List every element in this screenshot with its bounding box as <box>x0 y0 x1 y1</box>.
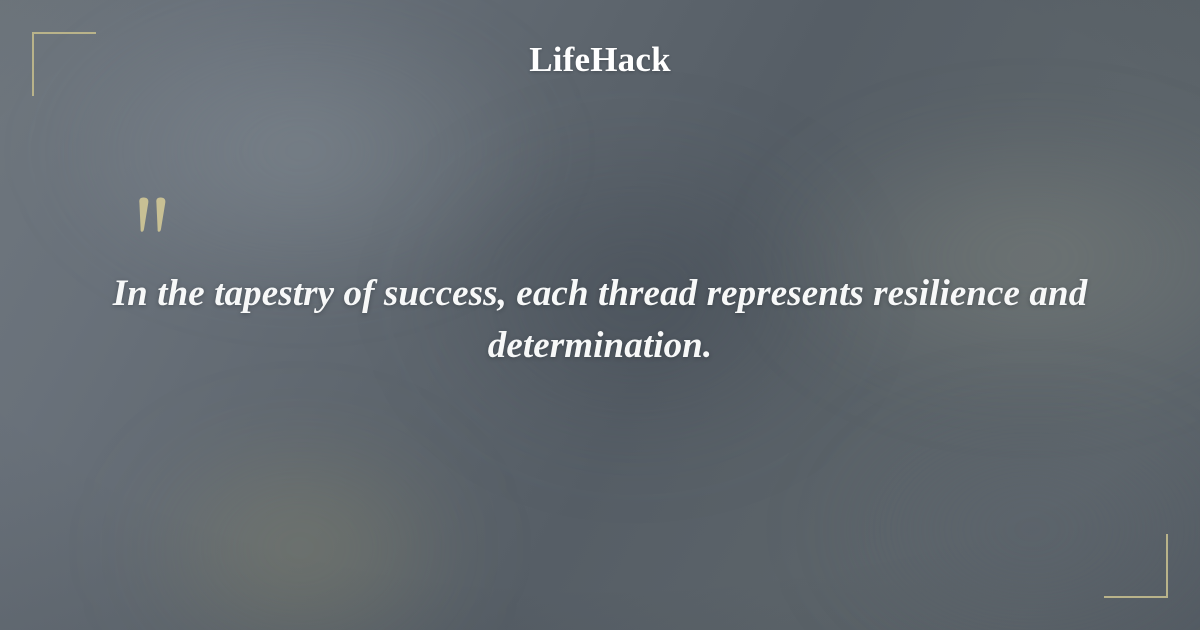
quote-mark-icon <box>130 196 174 242</box>
quote-block: In the tapestry of success, each thread … <box>110 196 1090 372</box>
brand-logo: LifeHack <box>0 41 1200 80</box>
quote-card: LifeHack In the tapestry of success, eac… <box>0 0 1200 630</box>
quote-text: In the tapestry of success, each thread … <box>110 268 1090 372</box>
